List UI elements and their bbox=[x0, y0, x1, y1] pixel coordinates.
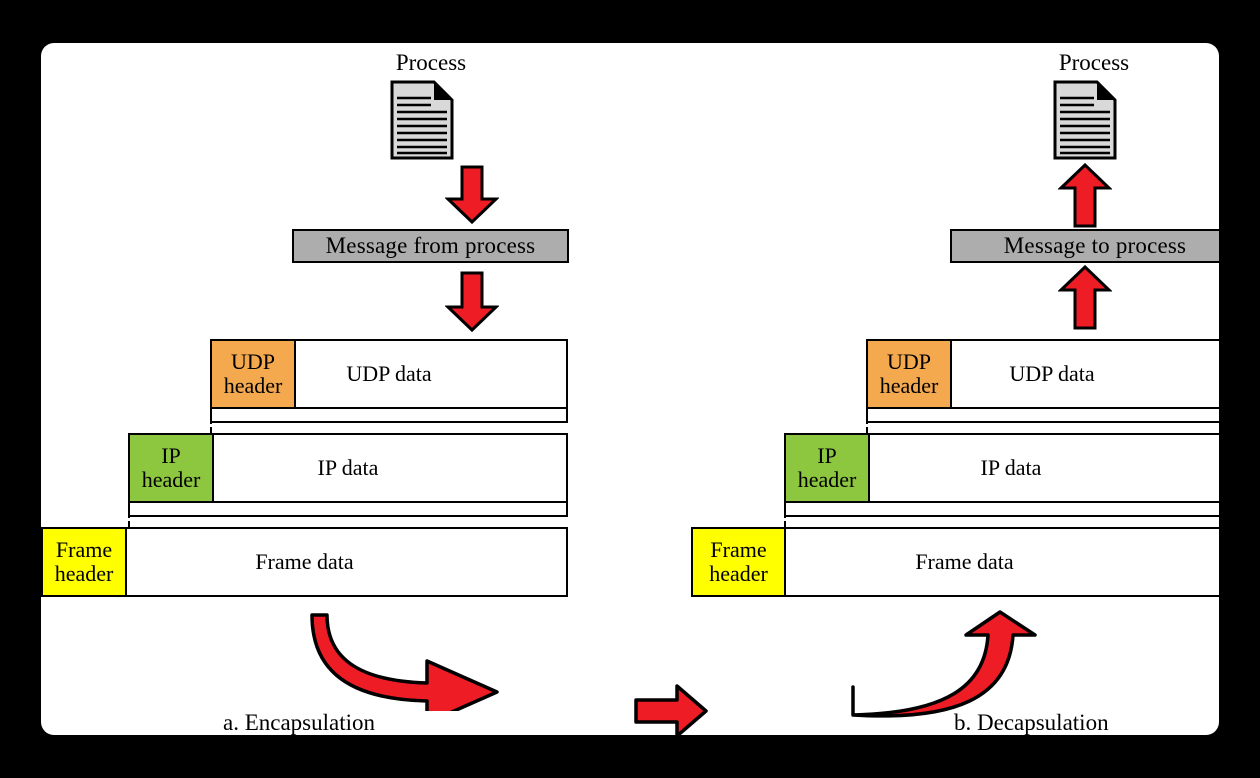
right-process-label: Process bbox=[1004, 51, 1184, 74]
right-frame-header: Frame header bbox=[691, 527, 786, 597]
right-flow-arrow bbox=[849, 609, 1044, 719]
right-caption: b. Decapsulation bbox=[954, 711, 1109, 734]
right-udp-header-line2: header bbox=[880, 374, 939, 398]
right-document-icon bbox=[1053, 80, 1117, 165]
right-connector-udp-to-ip bbox=[866, 409, 868, 433]
left-arrow-message-to-udp bbox=[445, 271, 499, 333]
right-arrow-udp-to-message bbox=[1058, 265, 1112, 331]
right-arrow-message-to-process bbox=[1058, 163, 1112, 229]
left-document-icon bbox=[390, 80, 454, 165]
left-caption: a. Encapsulation bbox=[223, 711, 375, 734]
diagram-panel: Process bbox=[41, 43, 1219, 735]
right-connector-ip-to-frame bbox=[784, 503, 786, 527]
left-ip-header: IP header bbox=[128, 433, 214, 503]
left-ip-header-line2: header bbox=[142, 468, 201, 492]
right-ip-gap bbox=[784, 503, 1219, 517]
left-frame-header-line2: header bbox=[55, 562, 114, 586]
left-udp-header: UDP header bbox=[210, 339, 296, 409]
right-udp-gap bbox=[866, 409, 1219, 423]
left-udp-header-line1: UDP bbox=[231, 350, 275, 374]
right-message-bar: Message to process bbox=[950, 229, 1219, 263]
left-udp-header-line2: header bbox=[224, 374, 283, 398]
right-frame-header-line2: header bbox=[709, 562, 768, 586]
left-frame-header-line1: Frame bbox=[56, 538, 112, 562]
left-process-label: Process bbox=[341, 51, 521, 74]
left-message-bar: Message from process bbox=[292, 229, 569, 263]
left-connector-udp-to-ip bbox=[210, 409, 212, 433]
left-arrow-process-to-message bbox=[445, 165, 499, 225]
left-flow-arrow bbox=[309, 611, 504, 711]
right-ip-header-line1: IP bbox=[817, 444, 837, 468]
right-ip-header-line2: header bbox=[798, 468, 857, 492]
right-udp-header-line1: UDP bbox=[887, 350, 931, 374]
left-connector-ip-to-frame bbox=[128, 503, 130, 527]
left-ip-gap bbox=[128, 503, 568, 517]
figure-canvas: Process bbox=[0, 0, 1260, 778]
left-udp-gap bbox=[210, 409, 568, 423]
middle-transit-arrow bbox=[633, 683, 709, 735]
right-ip-header: IP header bbox=[784, 433, 870, 503]
left-frame-header: Frame header bbox=[41, 527, 127, 597]
right-frame-header-line1: Frame bbox=[710, 538, 766, 562]
right-udp-header: UDP header bbox=[866, 339, 952, 409]
left-ip-header-line1: IP bbox=[161, 444, 181, 468]
